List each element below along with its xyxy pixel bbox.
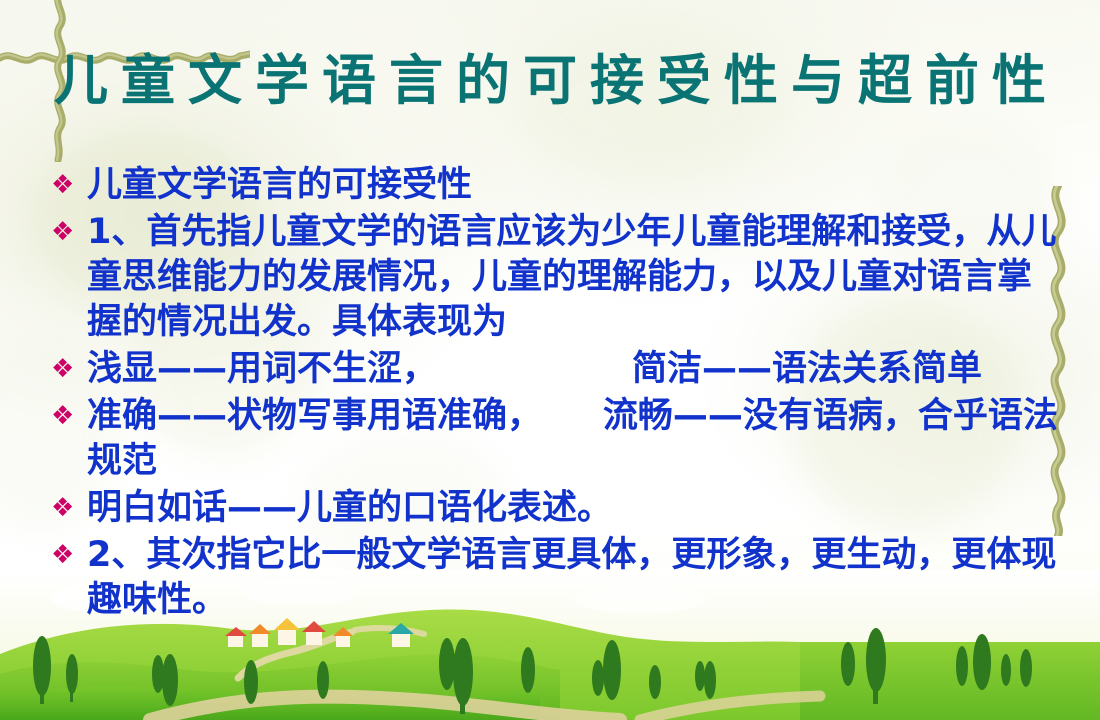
diamond-bullet-icon: ❖ [46, 533, 87, 577]
slide-title: 儿童文学语言的可接受性与超前性 [0, 52, 1100, 109]
list-item-label: 儿童文学语言的可接受性 [87, 163, 1058, 208]
list-item[interactable]: ❖ 明白如话——儿童的口语化表述。 [46, 486, 1058, 531]
list-item[interactable]: ❖ 浅显——用词不生涩， 简洁——语法关系简单 [46, 347, 1058, 392]
list-item-label: 准确——状物写事用语准确， 流畅——没有语病，合乎语法规范 [87, 394, 1058, 484]
diamond-bullet-icon: ❖ [46, 486, 87, 530]
diamond-bullet-icon: ❖ [46, 163, 87, 207]
slide-canvas: 儿童文学语言的可接受性与超前性 ❖ 儿童文学语言的可接受性 ❖ 1、首先指儿童文… [0, 0, 1100, 720]
diamond-bullet-icon: ❖ [46, 394, 87, 438]
list-item-label: 1、首先指儿童文学的语言应该为少年儿童能理解和接受，从儿童思维能力的发展情况，儿… [87, 210, 1058, 345]
list-item-label: 明白如话——儿童的口语化表述。 [87, 486, 1058, 531]
list-item[interactable]: ❖ 准确——状物写事用语准确， 流畅——没有语病，合乎语法规范 [46, 394, 1058, 484]
diamond-bullet-icon: ❖ [46, 210, 87, 254]
list-item[interactable]: ❖ 儿童文学语言的可接受性 [46, 163, 1058, 208]
list-item-label: 浅显——用词不生涩， 简洁——语法关系简单 [87, 347, 1058, 392]
list-item[interactable]: ❖ 2、其次指它比一般文学语言更具体，更形象，更生动，更体现趣味性。 [46, 533, 1058, 623]
list-item[interactable]: ❖ 1、首先指儿童文学的语言应该为少年儿童能理解和接受，从儿童思维能力的发展情况… [46, 210, 1058, 345]
bullet-list: ❖ 儿童文学语言的可接受性 ❖ 1、首先指儿童文学的语言应该为少年儿童能理解和接… [46, 163, 1058, 625]
diamond-bullet-icon: ❖ [46, 347, 87, 391]
list-item-label: 2、其次指它比一般文学语言更具体，更形象，更生动，更体现趣味性。 [87, 533, 1058, 623]
